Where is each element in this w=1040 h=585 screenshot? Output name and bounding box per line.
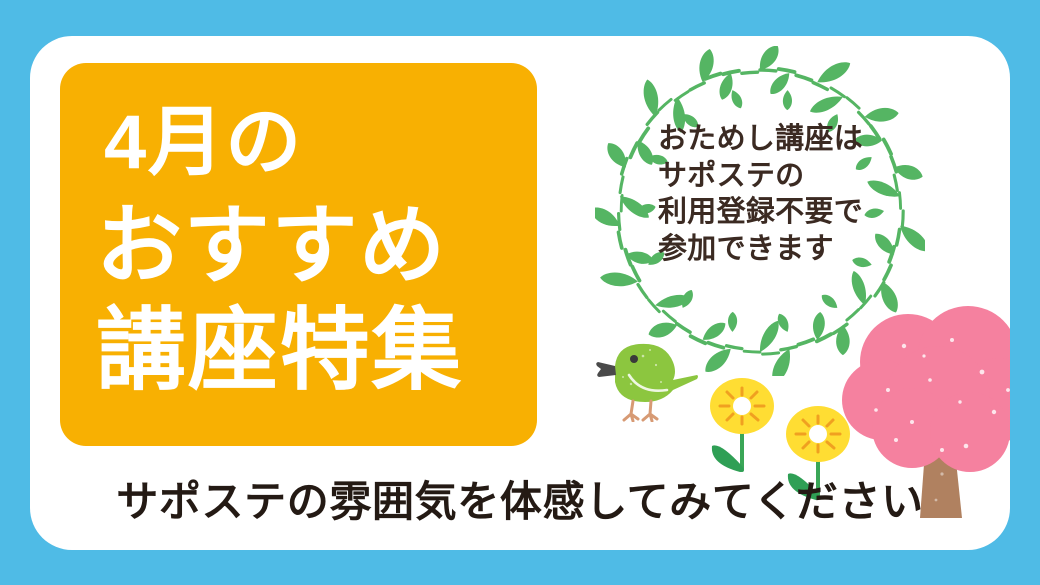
wreath-note-text: おためし講座は サポステの 利用登録不要で 参加できます (658, 121, 908, 267)
headline-line-2: おすすめ (96, 203, 447, 289)
wreath-note-line-3: 利用登録不要で (658, 194, 908, 231)
white-card: 4月の おすすめ 講座特集 おためし講座は サポステの 利用登録不要で 参加でき… (30, 36, 1010, 550)
wreath-note-line-2: サポステの (658, 158, 908, 195)
headline-line-3: 講座特集 (96, 306, 463, 396)
headline-box: 4月の おすすめ 講座特集 (60, 63, 537, 446)
headline-line-1: 4月の (104, 105, 303, 181)
wreath-note-line-4: 参加できます (658, 231, 908, 268)
wreath-note-line-1: おためし講座は (658, 121, 908, 158)
poster-canvas: 4月の おすすめ 講座特集 おためし講座は サポステの 利用登録不要で 参加でき… (0, 0, 1040, 585)
tagline-text: サポステの雰囲気を体感してみてください (30, 468, 1010, 529)
flower-icon (702, 366, 782, 481)
bird-icon (593, 332, 703, 422)
